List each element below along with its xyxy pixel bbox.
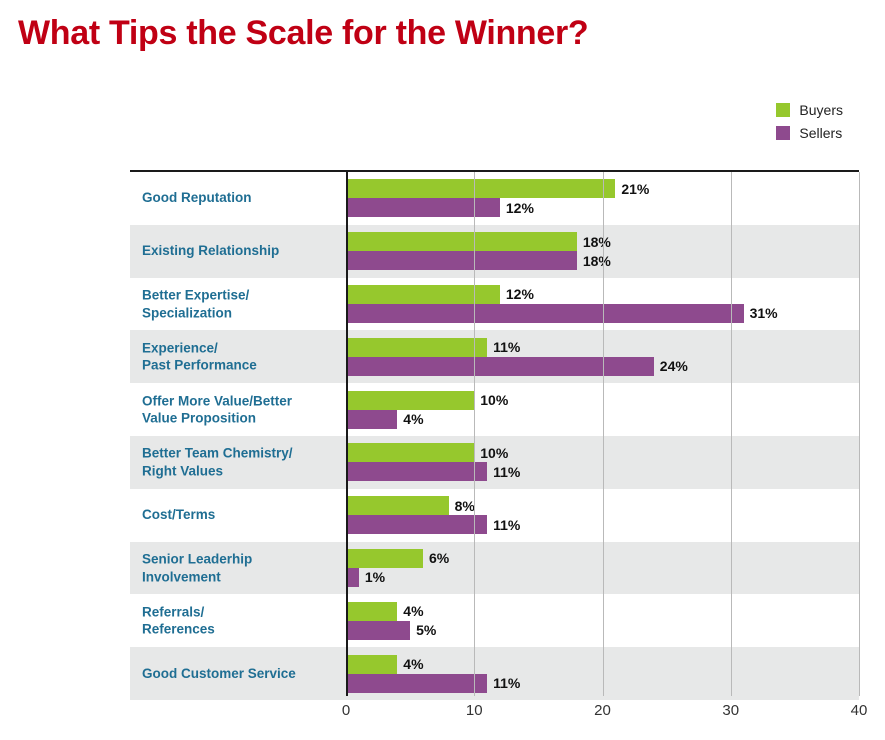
bar-group: 18%18% xyxy=(346,225,859,278)
bar-value-label: 18% xyxy=(583,234,611,250)
bar-group: 12%31% xyxy=(346,278,859,331)
bar-sellers[interactable] xyxy=(346,568,359,587)
legend-item-sellers[interactable]: Sellers xyxy=(776,126,843,140)
category-label: Existing Relationship xyxy=(142,242,342,260)
legend-item-label: Buyers xyxy=(799,103,843,117)
bar-group: 8%11% xyxy=(346,489,859,542)
bar-value-label: 10% xyxy=(480,392,508,408)
bar-buyers[interactable] xyxy=(346,549,423,568)
bar-group: 4%5% xyxy=(346,594,859,647)
bar-value-label: 11% xyxy=(493,464,520,480)
legend-item-label: Sellers xyxy=(799,126,842,140)
category-label: Offer More Value/Better Value Propositio… xyxy=(142,392,342,427)
bar-value-label: 4% xyxy=(403,411,423,427)
bar-value-label: 21% xyxy=(621,181,649,197)
bar-sellers[interactable] xyxy=(346,674,487,693)
x-tick-label: 30 xyxy=(722,702,739,719)
x-axis: 010203040 xyxy=(130,700,859,730)
category-label: Good Reputation xyxy=(142,190,342,208)
gridline xyxy=(859,172,860,696)
bar-value-label: 5% xyxy=(416,622,436,638)
bar-sellers[interactable] xyxy=(346,515,487,534)
bar-value-label: 4% xyxy=(403,656,423,672)
bar-sellers[interactable] xyxy=(346,621,410,640)
bar-group: 11%24% xyxy=(346,330,859,383)
bar-buyers[interactable] xyxy=(346,179,615,198)
bar-value-label: 10% xyxy=(480,445,508,461)
bar-value-label: 8% xyxy=(455,498,475,514)
chart-row: Existing Relationship18%18% xyxy=(130,225,859,278)
category-label: Better Expertise/ Specialization xyxy=(142,286,342,321)
chart-legend: BuyersSellers xyxy=(776,103,843,140)
chart-row: Senior Leaderhip Involvement6%1% xyxy=(130,542,859,595)
bar-group: 10%11% xyxy=(346,436,859,489)
bar-sellers[interactable] xyxy=(346,357,654,376)
bar-buyers[interactable] xyxy=(346,285,500,304)
category-label: Better Team Chemistry/ Right Values xyxy=(142,445,342,480)
legend-item-buyers[interactable]: Buyers xyxy=(776,103,843,117)
bar-group: 6%1% xyxy=(346,542,859,595)
legend-swatch-icon xyxy=(776,103,790,117)
category-label: Good Customer Service xyxy=(142,665,342,683)
bar-value-label: 24% xyxy=(660,358,688,374)
bar-buyers[interactable] xyxy=(346,496,449,515)
category-label: Referrals/ References xyxy=(142,603,342,638)
bar-value-label: 11% xyxy=(493,339,520,355)
chart-row: Cost/Terms8%11% xyxy=(130,489,859,542)
chart-row: Better Expertise/ Specialization12%31% xyxy=(130,278,859,331)
bar-value-label: 12% xyxy=(506,286,534,302)
chart-row: Experience/ Past Performance11%24% xyxy=(130,330,859,383)
bar-group: 4%11% xyxy=(346,647,859,700)
chart-plot-area: Good Reputation21%12%Existing Relationsh… xyxy=(130,170,859,698)
bar-group: 10%4% xyxy=(346,383,859,436)
bar-buyers[interactable] xyxy=(346,655,397,674)
chart-row: Offer More Value/Better Value Propositio… xyxy=(130,383,859,436)
bar-group: 21%12% xyxy=(346,172,859,225)
x-tick-label: 0 xyxy=(342,702,350,719)
chart-rows: Good Reputation21%12%Existing Relationsh… xyxy=(130,172,859,696)
bar-value-label: 31% xyxy=(750,305,778,321)
x-tick-label: 40 xyxy=(851,702,868,719)
bar-value-label: 1% xyxy=(365,569,385,585)
bar-sellers[interactable] xyxy=(346,251,577,270)
legend-swatch-icon xyxy=(776,126,790,140)
bar-value-label: 4% xyxy=(403,603,423,619)
bar-sellers[interactable] xyxy=(346,304,744,323)
bar-buyers[interactable] xyxy=(346,443,474,462)
bar-value-label: 12% xyxy=(506,200,534,216)
bar-sellers[interactable] xyxy=(346,462,487,481)
bar-buyers[interactable] xyxy=(346,602,397,621)
bar-sellers[interactable] xyxy=(346,410,397,429)
bar-buyers[interactable] xyxy=(346,338,487,357)
category-label: Senior Leaderhip Involvement xyxy=(142,550,342,585)
chart-row: Good Customer Service4%11% xyxy=(130,647,859,700)
page-title: What Tips the Scale for the Winner? xyxy=(18,14,588,53)
bar-buyers[interactable] xyxy=(346,391,474,410)
x-tick-label: 10 xyxy=(466,702,483,719)
x-tick-label: 20 xyxy=(594,702,611,719)
bar-value-label: 11% xyxy=(493,675,520,691)
category-label: Experience/ Past Performance xyxy=(142,339,342,374)
bar-value-label: 6% xyxy=(429,550,449,566)
chart-row: Better Team Chemistry/ Right Values10%11… xyxy=(130,436,859,489)
bar-sellers[interactable] xyxy=(346,198,500,217)
bar-value-label: 18% xyxy=(583,253,611,269)
bar-buyers[interactable] xyxy=(346,232,577,251)
chart-row: Good Reputation21%12% xyxy=(130,172,859,225)
bar-value-label: 11% xyxy=(493,517,520,533)
category-label: Cost/Terms xyxy=(142,506,342,524)
chart-row: Referrals/ References4%5% xyxy=(130,594,859,647)
